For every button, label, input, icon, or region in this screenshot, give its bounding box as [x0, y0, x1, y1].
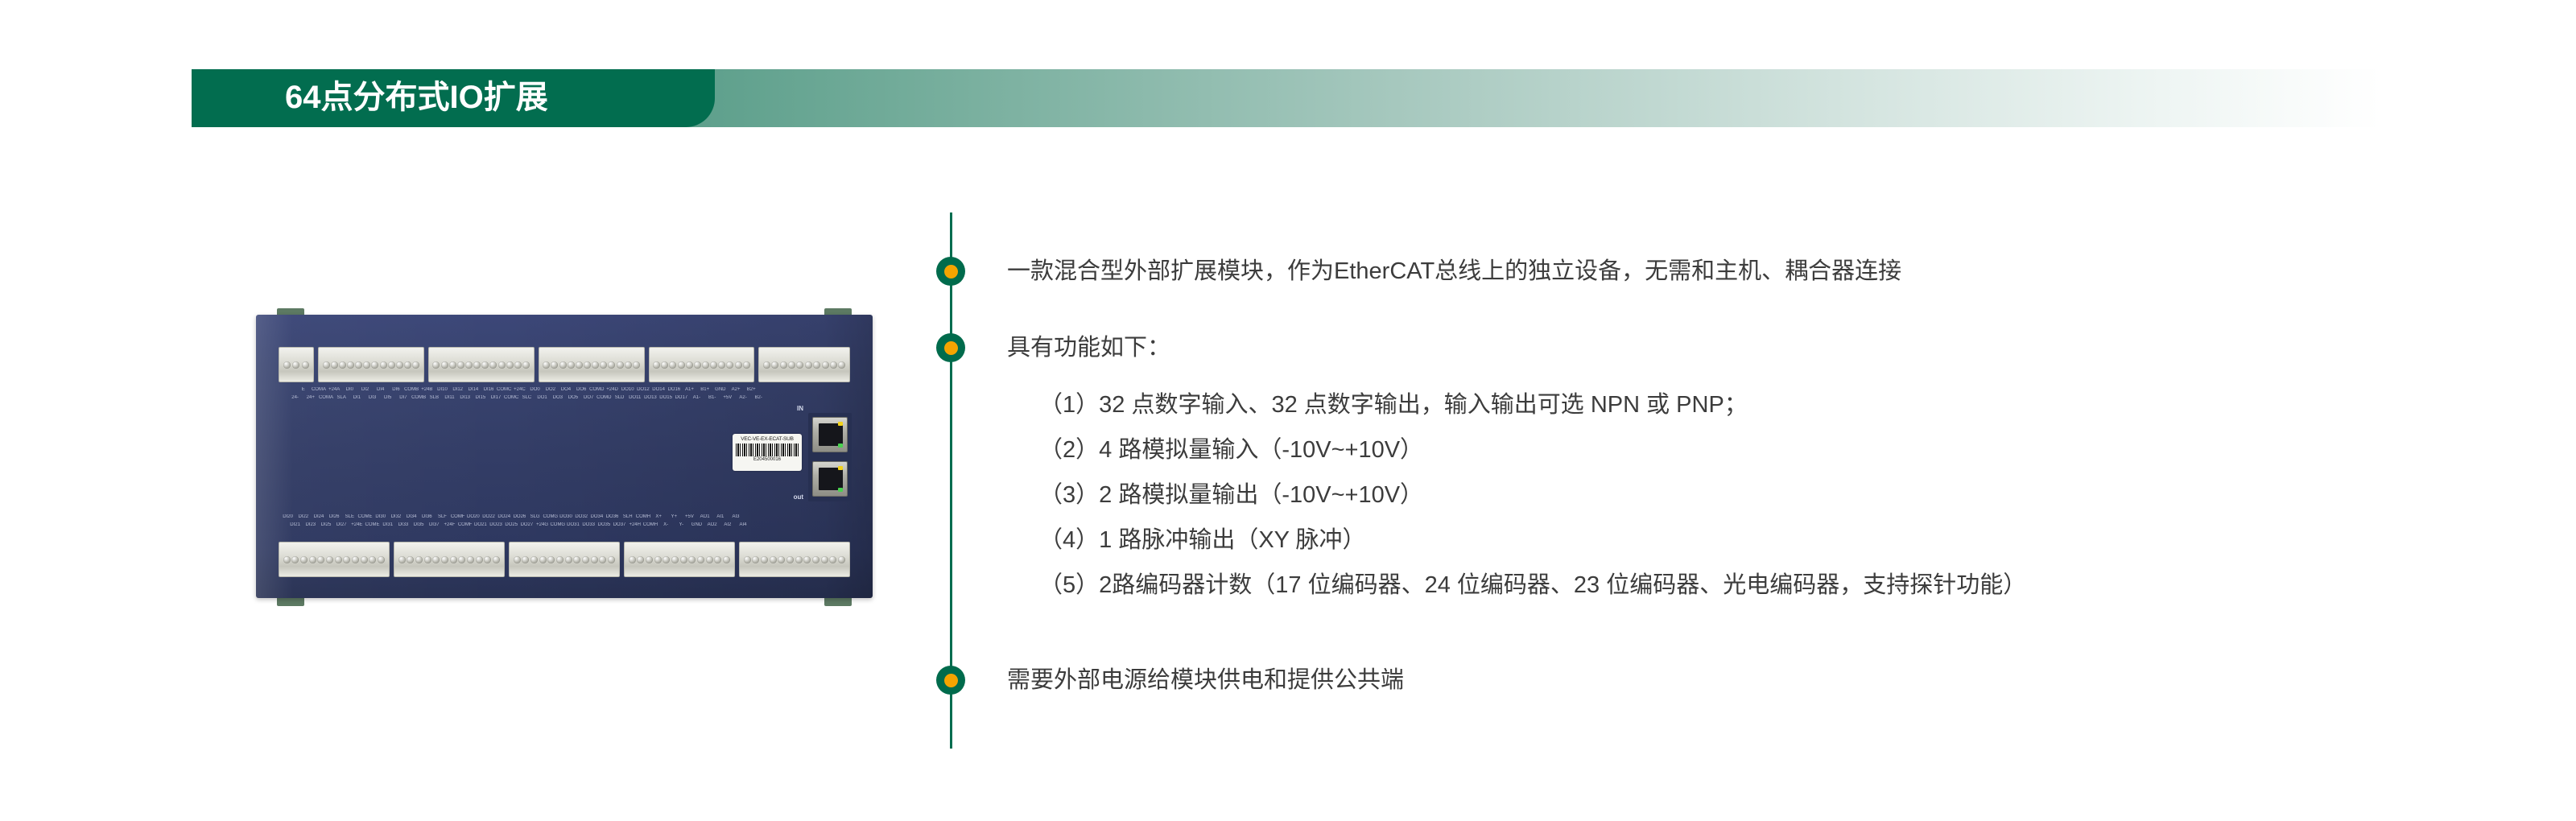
screw-icon — [302, 361, 309, 369]
screw-icon — [694, 361, 701, 369]
terminal-label: COMF — [457, 522, 473, 527]
terminal-label: DI26 — [327, 514, 342, 519]
screw-icon — [592, 361, 599, 369]
terminal-label: COMG — [550, 522, 565, 527]
screw-icon — [292, 361, 299, 369]
screw-icon — [744, 556, 751, 563]
screw-icon — [770, 556, 777, 563]
screw-icon — [821, 556, 828, 563]
screw-icon — [678, 361, 685, 369]
screw-icon — [576, 361, 583, 369]
screw-icon — [343, 556, 350, 563]
terminal-label: B1+ — [697, 387, 712, 392]
terminal-label: DI16 — [481, 387, 496, 392]
screw-icon — [369, 556, 376, 563]
terminal-label: DI17 — [488, 395, 503, 400]
terminal-label: COMB — [404, 387, 419, 392]
screw-icon — [317, 556, 324, 563]
terminal-block — [279, 542, 390, 577]
terminal-label: DI25 — [318, 522, 333, 527]
screw-icon — [514, 361, 522, 369]
terminal-label: DO20 — [465, 514, 481, 519]
screw-icon — [415, 556, 423, 563]
terminal-label: DI34 — [404, 514, 419, 519]
screw-icon — [331, 361, 338, 369]
barcode-icon — [736, 444, 799, 456]
terminal-label: DO36 — [605, 514, 620, 519]
terminal-label: COMH — [642, 522, 658, 527]
screw-icon — [714, 556, 721, 563]
screw-icon — [489, 361, 497, 369]
screw-icon — [371, 361, 378, 369]
terminal-label: DI2 — [357, 387, 373, 392]
screw-icon — [441, 556, 448, 563]
screw-icon — [591, 556, 598, 563]
terminal-label: GND — [712, 387, 728, 392]
terminal-label: DO35 — [597, 522, 612, 527]
rj45-port-in — [812, 417, 848, 452]
screw-icon — [584, 361, 591, 369]
screw-icon — [671, 556, 679, 563]
terminal-label: AO1 — [697, 514, 712, 519]
terminal-label: DI37 — [427, 522, 442, 527]
screw-icon — [710, 361, 717, 369]
terminal-label: A2- — [735, 395, 750, 400]
list-item: （2）4 路模拟量输入（-10V~+10V） — [1039, 427, 2026, 472]
terminal-label: DO31 — [565, 522, 580, 527]
screw-icon — [786, 556, 794, 563]
screw-icon — [608, 556, 615, 563]
terminal-label: DI0 — [342, 387, 357, 392]
screw-icon — [473, 361, 481, 369]
terminal-label: B1- — [704, 395, 720, 400]
terminal-label: DO30 — [558, 514, 573, 519]
feature-paragraph-2: 具有功能如下： — [1007, 332, 1170, 364]
list-item: （4）1 路脉冲输出（XY 脉冲） — [1039, 518, 2026, 563]
product-model-text: VEC-VE-EX-ECAT-SUB — [733, 436, 802, 442]
led-yellow-icon — [838, 466, 843, 470]
terminal-label: DO4 — [558, 387, 573, 392]
screw-icon — [481, 361, 489, 369]
list-item: （1）32 点数字输入、32 点数字输出，输入输出可选 NPN 或 PNP； — [1039, 382, 2026, 427]
terminal-label: AO2 — [704, 522, 720, 527]
screw-icon — [702, 361, 709, 369]
screw-icon — [830, 361, 837, 369]
terminal-label: DI10 — [435, 387, 450, 392]
screw-icon — [688, 556, 696, 563]
terminal-label: SLE — [342, 514, 357, 519]
terminal-label: DI30 — [373, 514, 388, 519]
screw-icon — [654, 556, 662, 563]
terminal-label: +5V — [720, 395, 735, 400]
screw-icon — [493, 556, 500, 563]
terminal-label: DO23 — [488, 522, 503, 527]
terminal-label: DI3 — [365, 395, 380, 400]
terminal-label: DI32 — [388, 514, 403, 519]
terminal-block — [394, 542, 505, 577]
screw-icon — [629, 556, 636, 563]
terminal-label: +24F — [442, 522, 457, 527]
terminal-block — [539, 347, 645, 382]
screw-icon — [398, 556, 406, 563]
terminal-label: DI31 — [380, 522, 395, 527]
terminal-label: DO25 — [504, 522, 519, 527]
screw-icon — [788, 361, 795, 369]
terminal-label: +24C — [512, 387, 527, 392]
terminal-label: DI5 — [380, 395, 395, 400]
screw-icon — [573, 556, 580, 563]
terminal-label: COMD — [589, 387, 605, 392]
screw-icon — [522, 361, 530, 369]
bullet-core-icon — [944, 674, 958, 687]
terminal-label: DO26 — [512, 514, 527, 519]
screw-icon — [795, 556, 803, 563]
screw-icon — [761, 556, 768, 563]
screw-icon — [723, 556, 730, 563]
terminal-label: DI36 — [419, 514, 435, 519]
screw-icon — [309, 556, 316, 563]
page-title: 64点分布式IO扩展 — [285, 69, 548, 127]
terminal-label: DI1 — [349, 395, 365, 400]
terminal-label: +24H — [627, 522, 642, 527]
terminal-label: DO0 — [527, 387, 543, 392]
screw-icon — [735, 361, 742, 369]
screw-icon — [743, 361, 750, 369]
terminal-label: +5V — [682, 514, 697, 519]
terminal-label: +24E — [349, 522, 365, 527]
screw-icon — [625, 361, 632, 369]
terminal-label: DI12 — [450, 387, 465, 392]
screw-icon — [539, 556, 547, 563]
screw-icon — [283, 556, 291, 563]
timeline-bullet-3 — [936, 666, 965, 695]
led-green-icon — [838, 444, 843, 448]
screw-icon — [617, 361, 624, 369]
ethernet-port-group — [808, 413, 852, 501]
terminal-label: 24- — [287, 395, 303, 400]
terminal-label: GND — [689, 522, 704, 527]
terminal-label: DO21 — [473, 522, 488, 527]
screw-icon — [530, 556, 538, 563]
screw-icon — [457, 361, 464, 369]
terminal-block — [428, 347, 535, 382]
terminal-label: COMB — [411, 395, 427, 400]
terminal-label: AI1 — [712, 514, 728, 519]
screw-icon — [396, 361, 403, 369]
terminal-label: SLH — [620, 514, 635, 519]
screw-icon — [465, 361, 473, 369]
terminal-label: DO1 — [535, 395, 550, 400]
terminal-label: DO11 — [627, 395, 642, 400]
terminal-label: COMA — [318, 395, 333, 400]
terminal-label: B2+ — [744, 387, 759, 392]
terminal-label: +24B — [419, 387, 435, 392]
terminal-block — [279, 347, 314, 382]
terminal-label: COME — [365, 522, 380, 527]
screw-icon — [661, 361, 668, 369]
screw-icon — [838, 556, 845, 563]
terminal-label: X- — [658, 522, 674, 527]
screw-icon — [706, 556, 713, 563]
screw-icon — [283, 361, 291, 369]
terminal-label: DI20 — [280, 514, 295, 519]
screw-icon — [796, 361, 803, 369]
terminal-label: DO10 — [620, 387, 635, 392]
list-item: （5）2路编码器计数（17 位编码器、24 位编码器、23 位编码器、光电编码器… — [1039, 563, 2026, 608]
screw-icon — [514, 556, 521, 563]
terminal-label: DO37 — [612, 522, 627, 527]
screw-icon — [380, 361, 387, 369]
terminal-label: DO13 — [642, 395, 658, 400]
terminal-label: COMF — [450, 514, 465, 519]
screw-icon — [522, 556, 529, 563]
screw-icon — [686, 361, 693, 369]
terminal-label: DO12 — [635, 387, 650, 392]
terminal-label: DI22 — [295, 514, 311, 519]
screw-icon — [559, 361, 567, 369]
terminal-label: DO15 — [658, 395, 674, 400]
terminal-label: 24+ — [303, 395, 318, 400]
terminal-label: DI11 — [442, 395, 457, 400]
product-barcode-label: VEC-VE-EX-ECAT-SUB E204500016 — [733, 434, 802, 471]
screw-icon — [450, 556, 457, 563]
terminal-label: SLB — [427, 395, 442, 400]
screw-icon — [432, 361, 440, 369]
screw-icon — [637, 556, 644, 563]
screw-icon — [669, 361, 676, 369]
screw-icon — [653, 361, 660, 369]
terminal-label: AI3 — [728, 514, 743, 519]
screw-icon — [300, 556, 308, 563]
screw-icon — [600, 361, 607, 369]
product-serial-text: E204500016 — [733, 457, 802, 462]
terminal-label: DI35 — [411, 522, 427, 527]
terminal-label: AI2 — [720, 522, 735, 527]
screw-icon — [599, 556, 606, 563]
list-item: （3）2 路模拟量输出（-10V~+10V） — [1039, 472, 2026, 518]
terminal-label: DO32 — [574, 514, 589, 519]
screw-icon — [404, 361, 411, 369]
screw-icon — [771, 361, 778, 369]
port-out-label: out — [794, 493, 803, 501]
terminal-block — [649, 347, 755, 382]
screw-icon — [407, 556, 414, 563]
terminal-label: DI15 — [473, 395, 488, 400]
screw-icon — [547, 556, 555, 563]
screw-icon — [476, 556, 483, 563]
screw-icon — [355, 361, 362, 369]
screw-icon — [506, 361, 514, 369]
led-green-icon — [838, 488, 843, 492]
terminal-block — [318, 347, 424, 382]
screw-icon — [323, 361, 330, 369]
screw-icon — [829, 556, 836, 563]
terminal-label: +24G — [535, 522, 550, 527]
terminal-label: COMG — [543, 514, 558, 519]
bullet-core-icon — [944, 265, 958, 278]
screw-icon — [822, 361, 829, 369]
screw-icon — [291, 556, 299, 563]
terminal-label: DO24 — [497, 514, 512, 519]
terminal-label: COMC — [504, 395, 519, 400]
feature-sub-list: （1）32 点数字输入、32 点数字输出，输入输出可选 NPN 或 PNP； （… — [1039, 382, 2026, 608]
screw-icon — [347, 361, 354, 369]
terminal-label: E — [295, 387, 311, 392]
screw-icon — [697, 556, 704, 563]
terminal-label: SLG — [527, 514, 543, 519]
screw-icon — [565, 556, 572, 563]
screw-icon — [441, 361, 448, 369]
screw-icon — [812, 556, 819, 563]
screw-icon — [663, 556, 670, 563]
terminal-label: COMC — [497, 387, 512, 392]
terminal-label: DI14 — [465, 387, 481, 392]
screw-icon — [763, 361, 770, 369]
terminal-label: A1+ — [682, 387, 697, 392]
terminal-block — [624, 542, 735, 577]
terminal-labels-bottom-lower: DI21DI23DI25DI27+24ECOMEDI31DI33DI35DI37… — [280, 522, 856, 542]
terminal-label: COMH — [635, 514, 650, 519]
terminal-label: A2+ — [728, 387, 743, 392]
terminal-label: COMA — [311, 387, 326, 392]
screw-icon — [778, 556, 785, 563]
timeline-bullet-2 — [936, 333, 965, 362]
terminal-label: DI6 — [388, 387, 403, 392]
screw-icon — [646, 556, 653, 563]
screw-icon — [484, 556, 491, 563]
screw-icon — [352, 556, 359, 563]
screw-icon — [449, 361, 456, 369]
screw-icon — [335, 556, 342, 563]
terminal-block — [758, 347, 850, 382]
screw-icon — [363, 361, 370, 369]
led-yellow-icon — [838, 422, 843, 426]
screw-icon — [458, 556, 465, 563]
terminal-label: SLC — [519, 395, 535, 400]
screw-icon — [838, 361, 845, 369]
screw-icon — [556, 556, 563, 563]
terminal-label: DO17 — [674, 395, 689, 400]
terminal-label: DO34 — [589, 514, 605, 519]
screw-icon — [467, 556, 474, 563]
screw-icon — [608, 361, 615, 369]
screw-icon — [432, 556, 440, 563]
screw-icon — [551, 361, 558, 369]
terminal-label: DI13 — [457, 395, 473, 400]
screw-icon — [424, 556, 431, 563]
terminal-label: AI4 — [735, 522, 750, 527]
terminal-label: DI4 — [373, 387, 388, 392]
terminal-label: DO6 — [574, 387, 589, 392]
port-in-label: IN — [797, 405, 803, 412]
terminal-label: Y- — [674, 522, 689, 527]
terminal-label: DI33 — [395, 522, 411, 527]
screw-icon — [805, 361, 812, 369]
screw-icon — [633, 361, 640, 369]
screw-icon — [780, 361, 787, 369]
screw-icon — [339, 361, 346, 369]
terminal-label: COME — [357, 514, 373, 519]
bullet-core-icon — [944, 341, 958, 355]
terminal-label: DO2 — [543, 387, 558, 392]
terminal-row-bottom — [279, 542, 850, 577]
terminal-label: SLA — [334, 395, 349, 400]
terminal-label: DO3 — [550, 395, 565, 400]
screw-icon — [680, 556, 687, 563]
screw-icon — [568, 361, 575, 369]
timeline-bullet-1 — [936, 257, 965, 286]
screw-icon — [378, 556, 385, 563]
terminal-label: DO22 — [481, 514, 496, 519]
terminal-label: Y+ — [667, 514, 682, 519]
terminal-label: A1- — [689, 395, 704, 400]
screw-icon — [361, 556, 368, 563]
screw-icon — [326, 556, 333, 563]
screw-icon — [582, 556, 589, 563]
terminal-label: X+ — [651, 514, 667, 519]
terminal-label: DI21 — [287, 522, 303, 527]
screw-icon — [412, 361, 419, 369]
screw-icon — [498, 361, 506, 369]
screw-icon — [543, 361, 550, 369]
terminal-label: SLF — [435, 514, 450, 519]
terminal-label: DO33 — [581, 522, 597, 527]
terminal-label: DO27 — [519, 522, 535, 527]
screw-icon — [752, 556, 759, 563]
terminal-block — [739, 542, 850, 577]
terminal-label: DI24 — [311, 514, 326, 519]
terminal-label: B2- — [751, 395, 766, 400]
terminal-label: DO14 — [651, 387, 667, 392]
terminal-label: COMD — [597, 395, 612, 400]
screw-icon — [718, 361, 725, 369]
screw-icon — [813, 361, 820, 369]
rj45-port-out — [812, 461, 848, 497]
terminal-label: DI7 — [395, 395, 411, 400]
terminal-label: DO5 — [565, 395, 580, 400]
terminal-label: DI23 — [303, 522, 318, 527]
screw-icon — [726, 361, 733, 369]
terminal-block — [509, 542, 620, 577]
terminal-label: +24A — [327, 387, 342, 392]
feature-paragraph-3: 需要外部电源给模块供电和提供公共端 — [1007, 664, 1404, 696]
terminal-row-top — [279, 347, 850, 382]
terminal-label: SLD — [612, 395, 627, 400]
terminal-labels-top-lower: 24-24+COMASLADI1DI3DI5DI7COMBSLBDI11DI13… — [280, 395, 856, 415]
terminal-label: +24D — [605, 387, 620, 392]
screw-icon — [803, 556, 811, 563]
screw-icon — [388, 361, 395, 369]
product-image: ECOMA+24ADI0DI2DI4DI6COMB+24BDI10DI12DI1… — [256, 308, 873, 606]
terminal-label: DI27 — [334, 522, 349, 527]
terminal-label: DO16 — [667, 387, 682, 392]
terminal-label: DO7 — [581, 395, 597, 400]
module-chassis: ECOMA+24ADI0DI2DI4DI6COMB+24BDI10DI12DI1… — [256, 315, 873, 598]
feature-paragraph-1: 一款混合型外部扩展模块，作为EtherCAT总线上的独立设备，无需和主机、耦合器… — [1007, 255, 1901, 287]
